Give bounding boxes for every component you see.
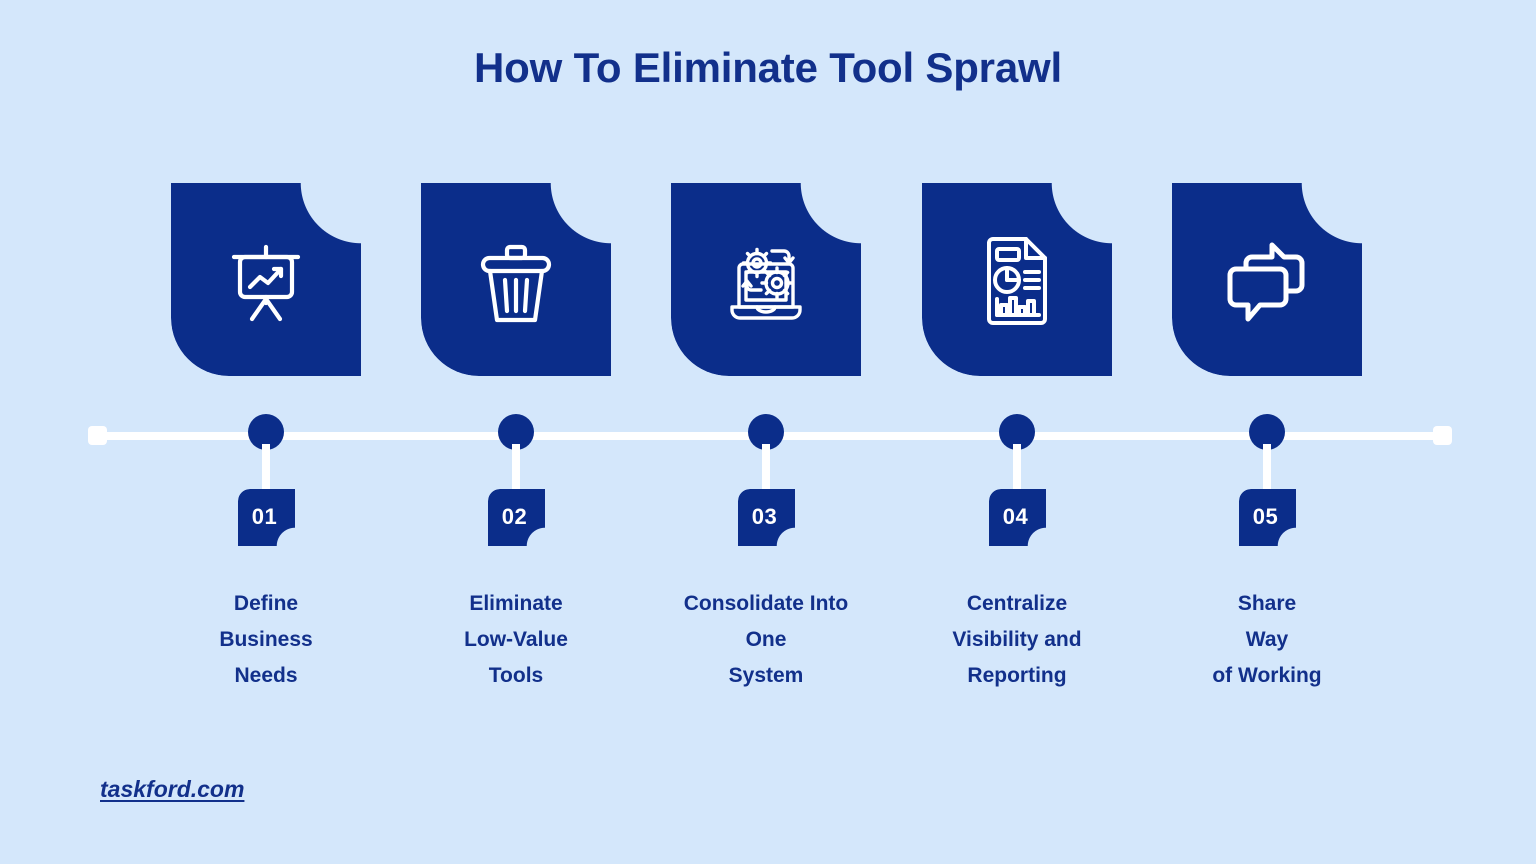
step-number-badge-4: 04: [989, 489, 1046, 546]
step-number-label: 05: [1239, 489, 1296, 546]
chat-bubbles-icon: [1172, 183, 1362, 376]
icon-card-step-2: [421, 183, 611, 376]
icon-card-step-4: [922, 183, 1112, 376]
timeline-start-cap: [88, 426, 107, 445]
step-label-5: Share Way of Working: [1137, 586, 1397, 694]
step-label-4: Centralize Visibility and Reporting: [887, 586, 1147, 694]
connector-stem-step-1: [262, 444, 270, 492]
timeline: [0, 428, 1536, 444]
page-title: How To Eliminate Tool Sprawl: [0, 44, 1536, 92]
icon-card-step-1: [171, 183, 361, 376]
step-number-label: 01: [238, 489, 295, 546]
trash-can-icon: [421, 183, 611, 376]
step-label-2: Eliminate Low-Value Tools: [386, 586, 646, 694]
step-number-badge-5: 05: [1239, 489, 1296, 546]
connector-stem-step-5: [1263, 444, 1271, 492]
report-document-icon: [922, 183, 1112, 376]
step-number-label: 04: [989, 489, 1046, 546]
footer-website-link[interactable]: taskford.com: [100, 776, 244, 803]
presentation-chart-icon: [171, 183, 361, 376]
timeline-end-cap: [1433, 426, 1452, 445]
step-number-label: 02: [488, 489, 545, 546]
connector-stem-step-4: [1013, 444, 1021, 492]
icon-card-step-3: [671, 183, 861, 376]
laptop-gears-icon: [671, 183, 861, 376]
icon-cards-row: [0, 183, 1536, 376]
step-number-badge-3: 03: [738, 489, 795, 546]
step-label-3: Consolidate Into One System: [636, 586, 896, 694]
step-number-badge-2: 02: [488, 489, 545, 546]
connector-stem-step-2: [512, 444, 520, 492]
step-label-1: Define Business Needs: [136, 586, 396, 694]
connector-stem-step-3: [762, 444, 770, 492]
icon-card-step-5: [1172, 183, 1362, 376]
step-number-badge-1: 01: [238, 489, 295, 546]
step-number-label: 03: [738, 489, 795, 546]
